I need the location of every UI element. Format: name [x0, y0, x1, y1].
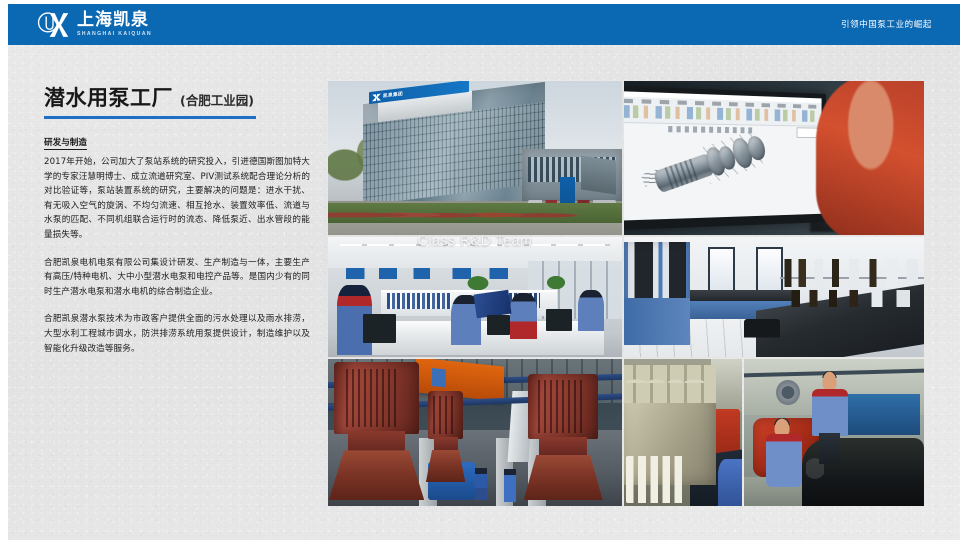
header-slogan: 引领中国泵工业的崛起: [841, 18, 932, 30]
photo-overlay-caption: Class R&D Team: [381, 237, 569, 251]
presentation-slide: 上海凯泉 SHANGHAI KAIQUAN 引领中国泵工业的崛起 潜水用泵工厂 …: [0, 0, 968, 550]
photo-diesel-engine: [624, 359, 742, 506]
photo-office-building: 凯泉集团: [328, 81, 622, 235]
photo-chemistry-laboratory: [624, 237, 924, 357]
title-subtitle: (合肥工业园): [180, 90, 254, 109]
kaiquan-logo-icon: [36, 10, 70, 40]
photo-pump-assembly-hall: [328, 359, 622, 506]
text-column: 潜水用泵工厂 (合肥工业园) 研发与制造 2017年开始，公司加大了泵站系统的研…: [44, 82, 310, 365]
photo-pair-bottom-right: [624, 359, 924, 506]
body-paragraph: 合肥凯泉潜水泵技术为市政客户提供全面的污水处理以及雨水排涝，大型水利工程城市调水…: [44, 312, 310, 356]
building-logo-icon: [372, 93, 381, 101]
building-sign-text: 凯泉集团: [383, 91, 403, 99]
brand-logo[interactable]: 上海凯泉 SHANGHAI KAIQUAN: [36, 10, 152, 40]
title-underline: [44, 116, 256, 119]
photo-collage: 凯泉集团: [328, 81, 924, 506]
page-edge-right: [960, 0, 968, 550]
worker-figure: [812, 371, 848, 462]
page-title: 潜水用泵工厂 (合肥工业园): [44, 82, 310, 112]
page-header: 上海凯泉 SHANGHAI KAIQUAN 引领中国泵工业的崛起: [8, 4, 968, 45]
body-paragraph: 2017年开始，公司加大了泵站系统的研究投入，引进德国斯图加特大学的专家汪慧明博…: [44, 155, 310, 243]
photo-engineering-office: Class R&D Team: [328, 237, 622, 357]
photo-cad-workstation: [624, 81, 924, 235]
body-paragraph: 合肥凯泉电机电泵有限公司集设计研发、生产制造与一体，主要生产有高压/特种电机、大…: [44, 256, 310, 300]
worker-figure: [766, 418, 802, 503]
page-edge-left: [0, 0, 8, 550]
brand-name-en: SHANGHAI KAIQUAN: [77, 32, 152, 37]
section-heading: 研发与制造: [44, 136, 87, 150]
title-main: 潜水用泵工厂: [44, 82, 173, 112]
page-edge-top: [0, 0, 968, 4]
brand-name-cn: 上海凯泉: [77, 12, 152, 29]
page-edge-bottom: [0, 540, 968, 550]
photo-assembly-workers: [744, 359, 924, 506]
